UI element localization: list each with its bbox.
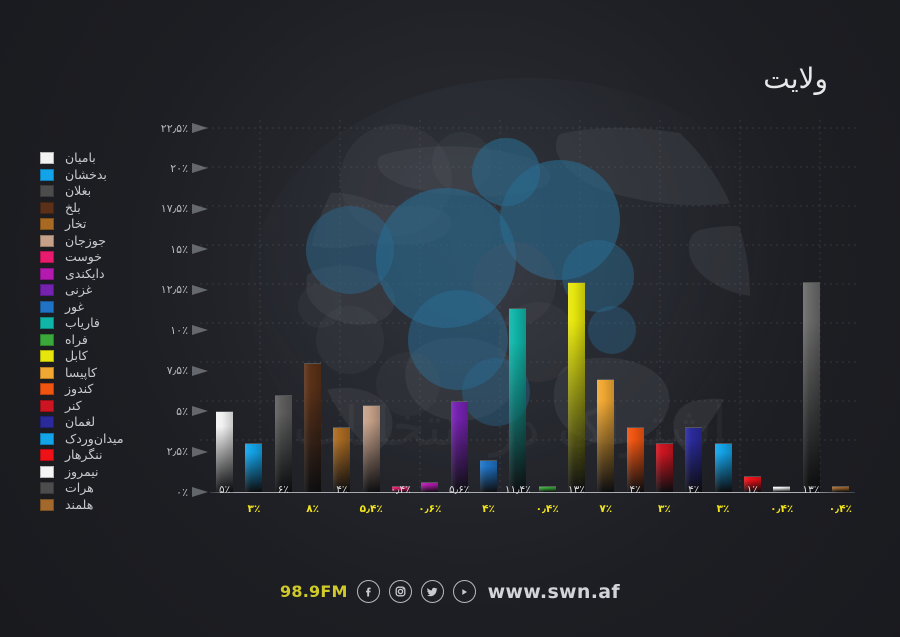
y-axis-tick-label: ۱۷٫۵٪ (161, 202, 188, 215)
y-axis-tick-label: ۱۲٫۵٪ (161, 283, 188, 296)
tick-arrow-icon (192, 163, 208, 173)
legend-color-swatch (40, 317, 54, 329)
tick-arrow-icon (192, 204, 208, 214)
legend-color-swatch (40, 152, 54, 164)
page-title: ولایت (763, 62, 828, 95)
bar[interactable] (568, 282, 585, 492)
legend-color-swatch (40, 482, 54, 494)
bar-series (210, 128, 855, 492)
legend-color-swatch (40, 449, 54, 461)
legend-color-swatch (40, 367, 54, 379)
legend-color-swatch (40, 169, 54, 181)
bar[interactable] (304, 363, 321, 492)
bar[interactable] (597, 379, 614, 492)
tick-arrow-icon (192, 366, 208, 376)
legend-item-label: جوزجان (65, 233, 106, 250)
legend-color-swatch (40, 268, 54, 280)
legend-color-swatch (40, 235, 54, 247)
y-axis-tick: ۲٫۵٪ (167, 446, 208, 458)
y-axis-tick-label: ۱۵٪ (170, 243, 188, 256)
legend-color-swatch (40, 383, 54, 395)
y-axis-tick-label: ۰٪ (176, 486, 188, 499)
youtube-icon[interactable] (453, 580, 476, 603)
legend-color-swatch (40, 218, 54, 230)
instagram-icon[interactable] (389, 580, 412, 603)
legend-item-label: بدخشان (65, 167, 107, 184)
legend-color-swatch (40, 433, 54, 445)
tick-arrow-icon (192, 406, 208, 416)
x-axis-label: ۵٪ (210, 484, 239, 496)
x-axis-label: ۰٫۴٪ (767, 503, 796, 515)
legend-item-label: نیمروز (65, 464, 98, 481)
x-axis-label: ۵٫۶٪ (445, 484, 474, 496)
y-axis-tick-label: ۲٫۵٪ (167, 445, 188, 458)
bar[interactable] (451, 401, 468, 492)
x-axis-label: ۴٪ (327, 484, 356, 496)
x-axis-label: ۳٪ (708, 503, 737, 515)
bar[interactable] (509, 308, 526, 492)
legend-item-label: میدان‌وردک (65, 431, 124, 448)
y-axis-tick: ۲۰٪ (170, 162, 208, 174)
website-url: www.swn.af (488, 581, 620, 603)
x-axis-label: ۰٫۴٪ (826, 503, 855, 515)
legend-item-label: فراه (65, 332, 88, 349)
legend-item-label: لغمان (65, 414, 95, 431)
x-axis-label: ۳٪ (239, 503, 268, 515)
legend-item-label: هرات (65, 480, 94, 497)
tick-arrow-icon (192, 285, 208, 295)
y-axis-tick-label: ۱۰٪ (170, 324, 188, 337)
y-axis-tick-label: ۷٫۵٪ (167, 364, 188, 377)
bar[interactable] (627, 427, 644, 492)
x-axis-label: ۵٫۴٪ (357, 503, 386, 515)
legend-color-swatch (40, 202, 54, 214)
tick-arrow-icon (192, 244, 208, 254)
bar[interactable] (275, 395, 292, 492)
x-axis-label: ۱٪ (738, 484, 767, 496)
tick-arrow-icon (192, 325, 208, 335)
legend-item-label: خوست (65, 249, 102, 266)
facebook-icon[interactable] (357, 580, 380, 603)
y-axis-tick-label: ۲۲٫۵٪ (161, 122, 188, 135)
y-axis-tick: ۰٪ (176, 486, 208, 498)
legend-item-label: فاریاب (65, 315, 100, 332)
tick-arrow-icon (192, 487, 208, 497)
bar[interactable] (803, 282, 820, 492)
legend-item-label: کنر (65, 398, 82, 415)
y-axis-tick: ۱۷٫۵٪ (161, 203, 208, 215)
bar[interactable] (333, 427, 350, 492)
y-axis-tick: ۷٫۵٪ (167, 365, 208, 377)
y-axis-tick-label: ۲۰٪ (170, 162, 188, 175)
legend-item-label: هلمند (65, 497, 93, 514)
legend-item-label: کابل (65, 348, 88, 365)
x-axis-label: ۱۳٪ (562, 484, 591, 496)
legend-color-swatch (40, 416, 54, 428)
bar[interactable] (216, 411, 233, 492)
y-axis-tick: ۱۰٪ (170, 324, 208, 336)
legend-color-swatch (40, 251, 54, 263)
legend-item-label: ننگرهار (65, 447, 103, 464)
legend-color-swatch (40, 400, 54, 412)
x-axis-label: ۰٫۴٪ (533, 503, 562, 515)
tick-arrow-icon (192, 123, 208, 133)
footer-bar: 98.9FM www.swn.af (0, 580, 900, 603)
x-axis-label: ۰٫۴٪ (386, 484, 415, 496)
legend-color-swatch (40, 350, 54, 362)
y-axis-tick: ۱۵٪ (170, 243, 208, 255)
legend-item-label: تخار (65, 216, 86, 233)
x-axis-label: ۸٪ (298, 503, 327, 515)
y-axis-tick: ۵٪ (176, 405, 208, 417)
x-axis-label: ۰٫۶٪ (415, 503, 444, 515)
x-axis-label: ۱۳٪ (796, 484, 825, 496)
legend-item-label: بغلان (65, 183, 91, 200)
y-axis-tick: ۱۲٫۵٪ (161, 284, 208, 296)
legend-color-swatch (40, 334, 54, 346)
legend-color-swatch (40, 301, 54, 313)
x-axis-label: ۴٪ (679, 484, 708, 496)
x-axis-label: ۷٪ (591, 503, 620, 515)
x-axis-label: ۶٪ (269, 484, 298, 496)
legend-item-label: دایکندی (65, 266, 105, 283)
x-axis-label: ۴٪ (474, 503, 503, 515)
tick-arrow-icon (192, 447, 208, 457)
x-axis-label: ۳٪ (650, 503, 679, 515)
bar[interactable] (685, 427, 702, 492)
bar[interactable] (363, 405, 380, 492)
x-axis-label: ۱۱٫۴٪ (503, 484, 532, 496)
legend-item-label: بلخ (65, 200, 81, 217)
radio-frequency-label: 98.9FM (280, 582, 348, 601)
twitter-icon[interactable] (421, 580, 444, 603)
y-axis-tick-label: ۵٪ (176, 405, 188, 418)
x-axis-label: ۴٪ (620, 484, 649, 496)
legend-item-label: بامیان (65, 150, 96, 167)
legend-color-swatch (40, 466, 54, 478)
legend-item-label: غور (65, 299, 84, 316)
legend-color-swatch (40, 499, 54, 511)
legend-item-label: کاپیسا (65, 365, 97, 382)
legend-item-label: غزنی (65, 282, 92, 299)
y-axis: ۰٪۲٫۵٪۵٪۷٫۵٪۱۰٪۱۲٫۵٪۱۵٪۱۷٫۵٪۲۰٪۲۲٫۵٪ (130, 120, 208, 500)
legend-item-label: کندوز (65, 381, 93, 398)
legend-color-swatch (40, 284, 54, 296)
legend-color-swatch (40, 185, 54, 197)
x-axis-labels: ۵٪۳٪۶٪۸٪۴٪۵٫۴٪۰٫۴٪۰٫۶٪۵٫۶٪۴٪۱۱٫۴٪۰٫۴٪۱۳٪… (210, 484, 855, 528)
y-axis-tick: ۲۲٫۵٪ (161, 122, 208, 134)
